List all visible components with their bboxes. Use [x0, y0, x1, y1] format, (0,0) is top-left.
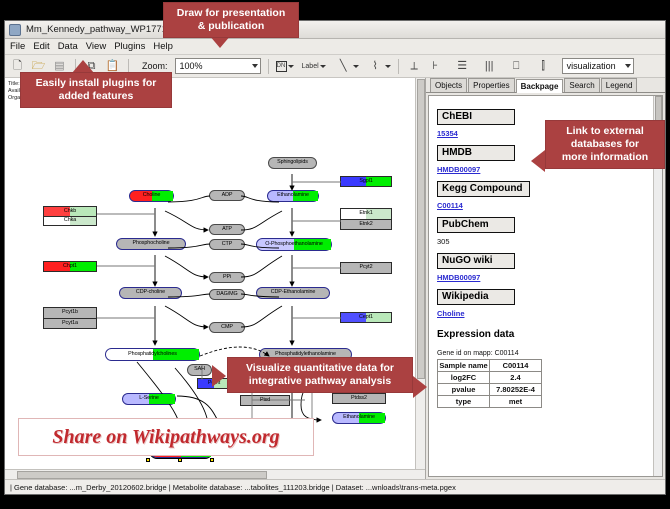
table-cell-key: Sample name — [438, 360, 490, 372]
table-cell-key: pvalue — [438, 384, 490, 396]
tab-legend[interactable]: Legend — [601, 78, 638, 92]
node-label: Etnk2 — [359, 222, 372, 227]
backpage-header-kegg-compound: Kegg Compound — [437, 181, 530, 197]
table-cell-value: met — [490, 396, 542, 408]
backpage-header-pubchem: PubChem — [437, 217, 515, 233]
node-label: Choline — [143, 193, 161, 198]
chevron-down-icon — [385, 65, 391, 68]
tab-backpage[interactable]: Backpage — [516, 79, 564, 93]
callout-draw-for-presentation: Draw for presentation & publication — [163, 2, 299, 38]
visualization-combo[interactable]: visualization — [562, 58, 634, 74]
node-label: Cept1 — [359, 315, 373, 320]
table-cell-value: C00114 — [490, 360, 542, 372]
node-label: Chpt1 — [63, 264, 77, 269]
expression-data-title: Expression data — [437, 329, 654, 340]
table-row: type met — [438, 396, 542, 408]
callout-arrow-left — [531, 150, 545, 172]
menu-item-view[interactable]: View — [86, 41, 106, 52]
chevron-down-icon — [353, 65, 359, 68]
callout-line: more information — [552, 151, 658, 164]
table-row: pvalue 7.80252E-4 — [438, 384, 542, 396]
node-label: Ethanolamine — [277, 193, 309, 198]
table-cell-key: type — [438, 396, 490, 408]
callout-line: Link to external — [552, 125, 658, 138]
node-label: Phosphatidylcholines — [128, 352, 177, 357]
expression-data-table: Sample name C00114 log2FC 2.4 pvalue 7.8… — [437, 359, 542, 408]
callout-link-to-external-databases: Link to external databases for more info… — [545, 120, 665, 169]
toolbar-separator-3 — [268, 59, 269, 74]
callout-line: Visualize quantitative data for — [234, 362, 406, 375]
selection-handle[interactable] — [210, 458, 214, 462]
status-text: | Gene database: ...m_Derby_20120602.bri… — [10, 483, 456, 492]
chevron-down-icon — [625, 64, 631, 68]
menu-item-edit[interactable]: Edit — [33, 41, 49, 52]
callout-line: Draw for presentation — [170, 7, 292, 20]
stack-vertical-icon[interactable]: ☰ — [454, 58, 471, 75]
node-label: SAH — [194, 367, 205, 372]
menu-bar: File Edit Data View Plugins Help — [5, 39, 665, 55]
node-label: ADP — [222, 193, 233, 198]
tab-search[interactable]: Search — [564, 78, 599, 92]
node-label: Etnk1 — [359, 211, 372, 216]
align-left-icon[interactable]: ⊦ — [427, 58, 444, 75]
chevron-down-icon — [320, 65, 326, 68]
callout-share-on-wikipathways: Share on Wikipathways.org — [18, 418, 314, 456]
table-cell-value: 2.4 — [490, 372, 542, 384]
tab-objects[interactable]: Objects — [430, 78, 467, 92]
label-tool[interactable]: Label — [302, 63, 326, 70]
share-text: Share on Wikipathways.org — [52, 426, 279, 449]
node-label: L-Serine — [139, 396, 159, 401]
node-label: Ethanolamine — [343, 415, 375, 420]
node-label: Pisd — [260, 398, 270, 403]
node-label: PPi — [223, 275, 231, 280]
node-label: CDP-Ethanolamine — [271, 290, 316, 295]
screenshot-root: Mm_Kennedy_pathway_WP1771_45176.gp File … — [0, 0, 670, 509]
node-label: Pcyt1a — [62, 321, 78, 326]
line-tool[interactable]: ╲ — [335, 58, 359, 75]
callout-line: integrative pathway analysis — [234, 375, 406, 388]
node-label: Sgpl1 — [359, 179, 372, 184]
side-panel-tabs: Objects Properties Backpage Search Legen… — [426, 78, 665, 93]
callout-easily-install-plugins: Easily install plugins for added feature… — [20, 72, 172, 108]
tab-properties[interactable]: Properties — [468, 78, 514, 92]
backpage-header-hmdb: HMDB — [437, 145, 515, 161]
label-tool-caption: Label — [302, 63, 319, 70]
backpage-header-wikipedia: Wikipedia — [437, 289, 515, 305]
callout-line: Easily install plugins for — [27, 77, 165, 90]
backpage-link-kegg-compound[interactable]: C00114 — [437, 201, 654, 210]
menu-item-help[interactable]: Help — [153, 41, 173, 52]
ungroup-icon[interactable]: ⫿ — [535, 58, 552, 75]
node-label: CDP-choline — [136, 290, 165, 295]
callout-line: databases for — [552, 138, 658, 151]
callout-visualize-quantitative-data: Visualize quantitative data for integrat… — [227, 357, 413, 393]
callout-arrow-right — [212, 365, 226, 387]
table-cell-key: log2FC — [438, 372, 490, 384]
datanode-tool[interactable]: DN — [276, 61, 294, 72]
node-label: Chkb — [64, 209, 76, 214]
callout-line: & publication — [170, 20, 292, 33]
menu-item-data[interactable]: Data — [58, 41, 78, 52]
shape-tool[interactable]: ⌇ — [367, 58, 391, 75]
node-label: Pcyt1b — [62, 310, 78, 315]
callout-arrow-right — [413, 376, 427, 398]
node-label: CMP — [221, 325, 233, 330]
status-bar: | Gene database: ...m_Derby_20120602.bri… — [5, 479, 665, 494]
backpage-value-pubchem: 305 — [437, 237, 654, 246]
table-row: Sample name C00114 — [438, 360, 542, 372]
table-cell-value: 7.80252E-4 — [490, 384, 542, 396]
shape-icon: ⌇ — [367, 58, 384, 75]
node-label: Pcyt2 — [360, 265, 373, 270]
menu-item-file[interactable]: File — [10, 41, 25, 52]
chevron-down-icon — [288, 65, 294, 68]
chevron-down-icon — [252, 64, 258, 68]
toolbar-separator-4 — [398, 59, 399, 74]
node-label: ATP — [222, 227, 232, 232]
selection-handle[interactable] — [146, 458, 150, 462]
node-label: Phosphocholine — [133, 241, 170, 246]
node-label: Chka — [64, 218, 76, 223]
backpage-link-nugo-wiki[interactable]: HMDB00097 — [437, 273, 654, 282]
node-label: DAG/MG — [216, 292, 237, 297]
selection-handle[interactable] — [178, 458, 182, 462]
backpage-link-wikipedia[interactable]: Choline — [437, 309, 654, 318]
gene-id-on-mapp: Gene id on mapp: C00114 — [437, 350, 654, 357]
datanode-icon: DN — [276, 61, 287, 72]
table-row: log2FC 2.4 — [438, 372, 542, 384]
align-top-icon[interactable]: ⟂ — [406, 58, 423, 75]
zoom-combo[interactable]: 100% — [175, 58, 261, 74]
distribute-icon[interactable]: ||| — [481, 58, 498, 75]
title-bar: Mm_Kennedy_pathway_WP1771_45176.gp — [5, 21, 665, 39]
backpage-header-nugo-wiki: NuGO wiki — [437, 253, 515, 269]
backpage-header-chebi: ChEBI — [437, 109, 515, 125]
zoom-label: Zoom: — [142, 61, 168, 71]
pathvisio-icon — [9, 24, 21, 36]
menu-item-plugins[interactable]: Plugins — [114, 41, 145, 52]
callout-line: added features — [27, 90, 165, 103]
node-label: Sphingolipids — [277, 160, 308, 165]
zoom-value: 100% — [180, 61, 203, 71]
node-label: CTP — [222, 242, 232, 247]
node-label: Ptdss2 — [351, 396, 367, 401]
node-label: O-Phosphoethanolamine — [265, 242, 323, 247]
visualization-value: visualization — [567, 61, 616, 71]
group-icon[interactable]: ⎕ — [508, 58, 525, 75]
line-icon: ╲ — [335, 58, 352, 75]
